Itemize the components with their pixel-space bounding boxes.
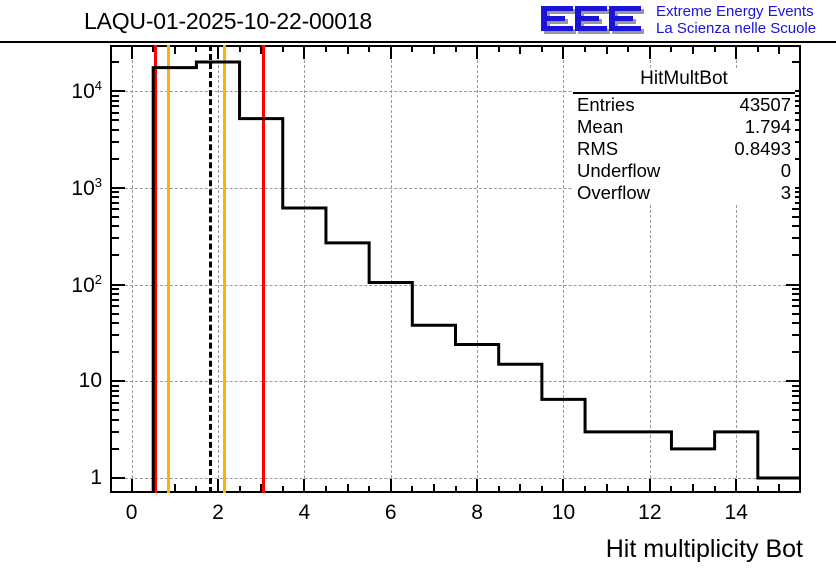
x-tick-label-14: 14 <box>725 501 748 525</box>
stats-value: 0.8493 <box>734 138 791 160</box>
stats-row: Entries43507 <box>573 94 795 116</box>
stats-key: Entries <box>577 94 635 116</box>
stats-row: RMS0.8493 <box>573 138 795 160</box>
eee-logo-line1: Extreme Energy Events <box>656 3 816 20</box>
stats-value: 1.794 <box>745 116 791 138</box>
stats-row: Mean1.794 <box>573 116 795 138</box>
x-tick-label-12: 12 <box>638 501 661 525</box>
stats-key: RMS <box>577 138 618 160</box>
x-tick-label-4: 4 <box>299 501 311 525</box>
x-tick-label-10: 10 <box>552 501 575 525</box>
eee-logo: Extreme Energy Events La Scienza nelle S… <box>538 2 834 42</box>
x-tick-label-6: 6 <box>385 501 397 525</box>
y-tick-label-1000: 103 <box>71 175 102 201</box>
eee-logo-line2: La Scienza nelle Scuole <box>656 20 816 37</box>
header-divider <box>0 41 836 43</box>
root-canvas: LAQU-01-2025-10-22-00018 <box>0 0 836 572</box>
page-title: LAQU-01-2025-10-22-00018 <box>84 8 372 35</box>
stats-rows: Entries43507Mean1.794RMS0.8493Underflow0… <box>573 94 795 204</box>
stats-value: 43507 <box>740 94 791 116</box>
stats-key: Underflow <box>577 160 660 182</box>
y-tick-label-100: 102 <box>71 272 102 298</box>
y-tick-label-10: 10 <box>79 369 102 393</box>
stats-row: Underflow0 <box>573 160 795 182</box>
x-tick-label-2: 2 <box>212 501 224 525</box>
eee-mark-icon <box>538 2 648 40</box>
stats-row: Overflow3 <box>573 182 795 204</box>
stats-value: 3 <box>781 182 791 204</box>
y-tick-label-1: 1 <box>90 466 102 490</box>
stats-value: 0 <box>781 160 791 182</box>
eee-logo-text: Extreme Energy Events La Scienza nelle S… <box>656 3 816 37</box>
stats-key: Overflow <box>577 182 650 204</box>
stats-key: Mean <box>577 116 623 138</box>
x-axis-title: Hit multiplicity Bot <box>606 535 803 564</box>
stats-title: HitMultBot <box>573 68 795 94</box>
x-tick-label-8: 8 <box>471 501 483 525</box>
y-tick-label-10000: 104 <box>71 78 102 104</box>
stats-box: HitMultBot Entries43507Mean1.794RMS0.849… <box>573 68 795 204</box>
x-tick-label-0: 0 <box>126 501 138 525</box>
